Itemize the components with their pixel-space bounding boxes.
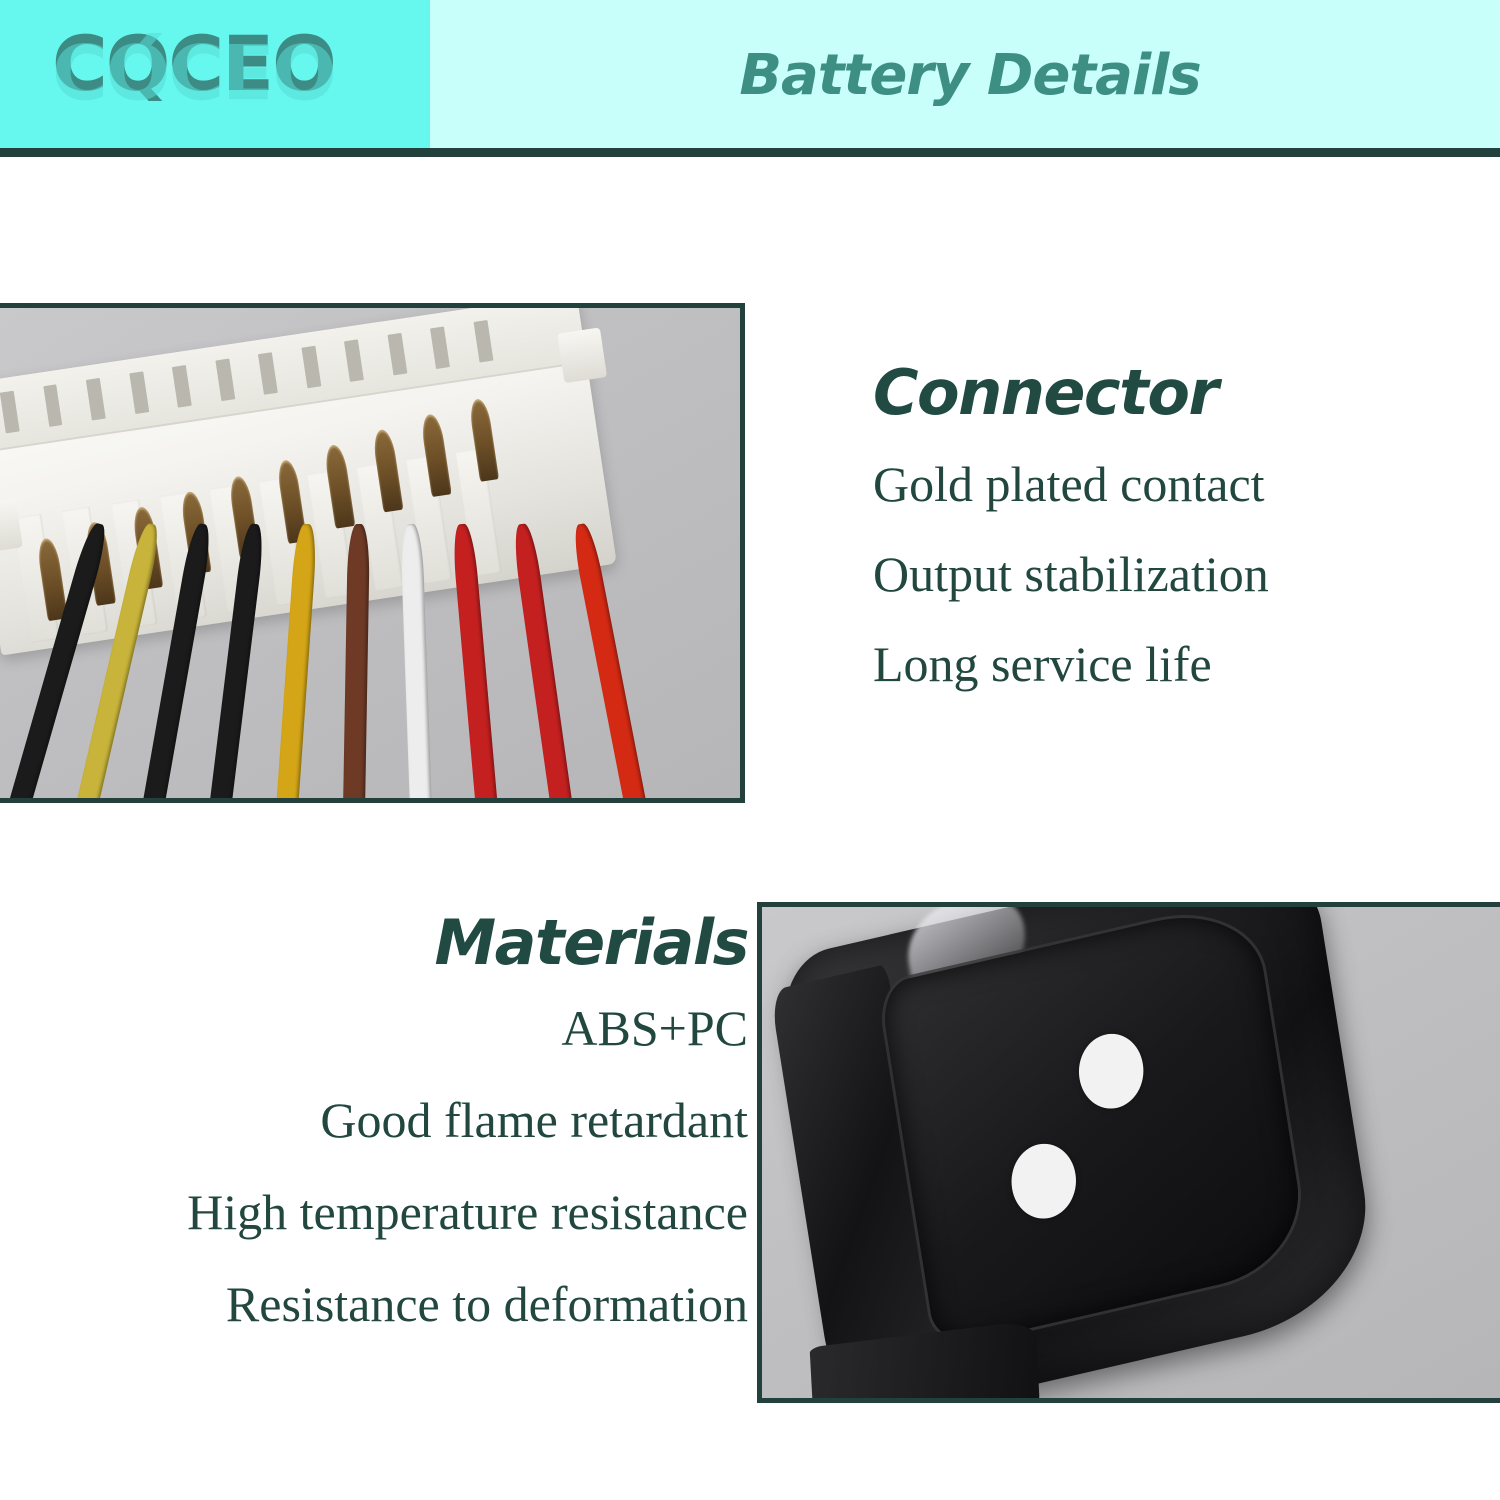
materials-feature-3: High temperature resistance (0, 1187, 748, 1237)
materials-feature-1: ABS+PC (0, 1003, 748, 1053)
connector-feature-2: Output stabilization (873, 549, 1473, 599)
brand-logo-block: CQCEO CQCEO (0, 0, 430, 148)
connector-latch-ear (0, 499, 23, 554)
connector-feature-1: Gold plated contact (873, 459, 1473, 509)
material-photo (757, 902, 1500, 1403)
materials-heading: Materials (0, 910, 748, 975)
bracket-recess (879, 902, 1309, 1350)
materials-feature-2: Good flame retardant (0, 1095, 748, 1145)
connector-photo (0, 303, 745, 803)
materials-section-text: Materials ABS+PC Good flame retardant Hi… (0, 910, 748, 1329)
connector-latch-ear (557, 328, 607, 383)
wire-brown (342, 523, 369, 803)
connector-heading: Connector (873, 360, 1473, 425)
page-title: Battery Details (700, 48, 1240, 104)
bracket-hole (1006, 1138, 1081, 1225)
bracket-hole (1074, 1028, 1149, 1115)
product-detail-page: CQCEO CQCEO Battery Details (0, 0, 1500, 1500)
page-header: CQCEO CQCEO Battery Details (0, 0, 1500, 157)
connector-section-text: Connector Gold plated contact Output sta… (873, 360, 1473, 689)
brand-logo-reflection: CQCEO (52, 32, 335, 108)
materials-feature-4: Resistance to deformation (0, 1279, 748, 1329)
header-divider-rule (0, 148, 1500, 157)
connector-feature-3: Long service life (873, 639, 1473, 689)
